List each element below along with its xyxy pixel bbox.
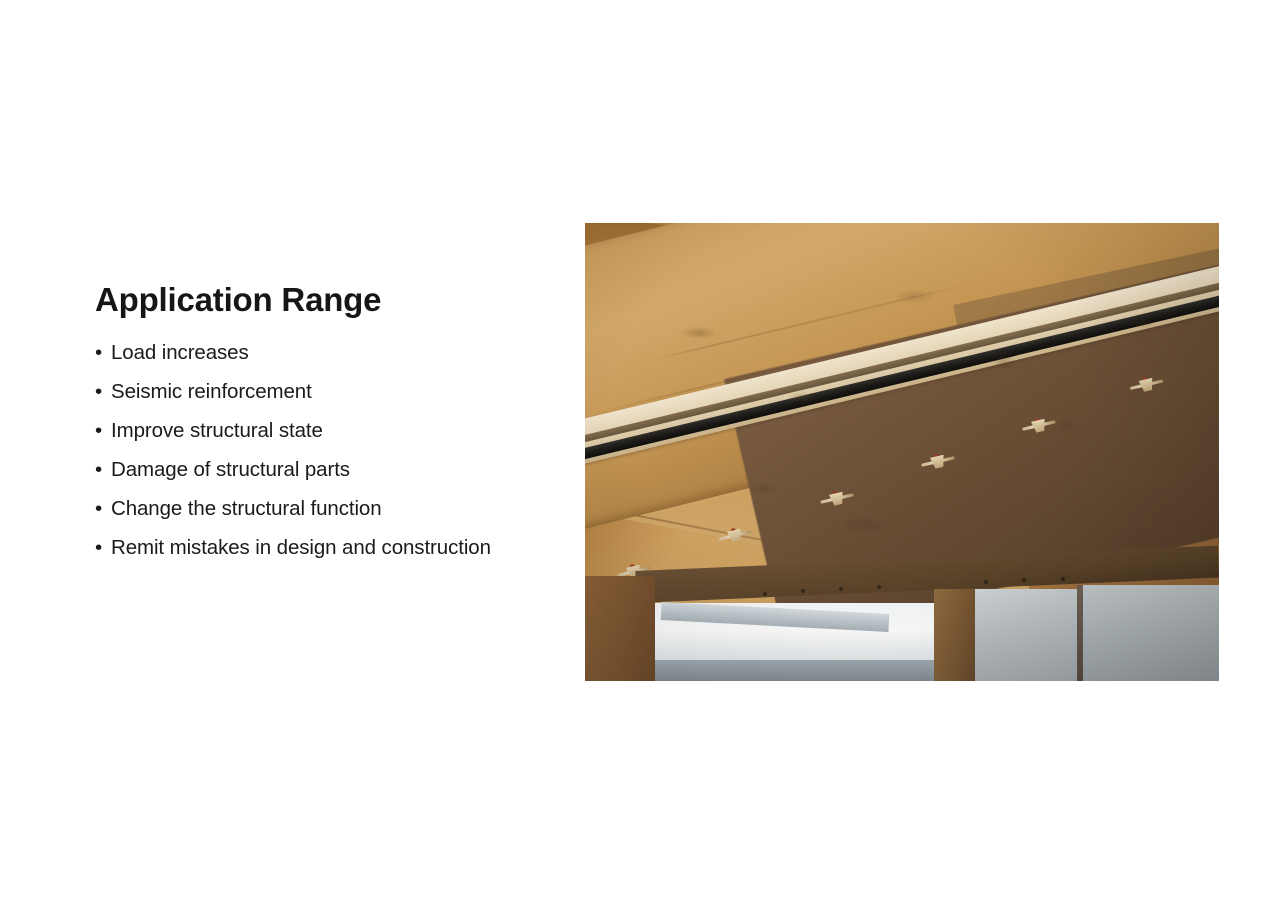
list-item-label: Damage of structural parts: [111, 460, 350, 481]
anchor-pin-icon: [731, 527, 737, 533]
photo-bolt-dot: [839, 587, 843, 591]
anchor-pin-icon: [832, 491, 838, 497]
concrete-beam-cfrp-strengthening-photo: [585, 223, 1219, 681]
photo-concrete-wall-panel: [1083, 585, 1219, 681]
photo-bolt-dot: [763, 592, 767, 596]
bullet-list: • Load increases • Seismic reinforcement…: [95, 334, 565, 568]
photo-bolt-dot: [877, 585, 881, 589]
photo-bolt-dot: [1061, 577, 1065, 581]
anchor-pin-icon: [933, 454, 939, 460]
anchor-pin-icon: [1035, 417, 1041, 423]
anchor-pin-icon: [1142, 377, 1148, 383]
list-item-label: Load increases: [111, 343, 249, 364]
slide-canvas: Application Range • Load increases • Sei…: [0, 0, 1275, 902]
list-item-label: Improve structural state: [111, 421, 323, 442]
bullet-icon: •: [95, 421, 111, 442]
photo-concrete-column: [934, 589, 975, 681]
list-item-label: Change the structural function: [111, 499, 382, 520]
page-title: Application Range: [95, 283, 565, 318]
list-item: • Seismic reinforcement: [95, 373, 565, 412]
list-item: • Change the structural function: [95, 490, 565, 529]
photo-opening-sill: [642, 660, 972, 681]
list-item-label: Seismic reinforcement: [111, 382, 312, 403]
bullet-icon: •: [95, 382, 111, 403]
list-item: • Damage of structural parts: [95, 451, 565, 490]
bullet-icon: •: [95, 499, 111, 520]
list-item: • Improve structural state: [95, 412, 565, 451]
text-content-block: Application Range • Load increases • Sei…: [95, 283, 565, 568]
photo-concrete-wall-panel: [972, 589, 1080, 681]
photo-canvas: [585, 223, 1219, 681]
list-item: • Load increases: [95, 334, 565, 373]
photo-concrete-column: [585, 576, 655, 681]
list-item-label: Remit mistakes in design and constructio…: [111, 538, 491, 559]
list-item: • Remit mistakes in design and construct…: [95, 529, 565, 568]
bullet-icon: •: [95, 460, 111, 481]
anchor-pin-icon: [629, 564, 635, 570]
bullet-icon: •: [95, 538, 111, 559]
bullet-icon: •: [95, 343, 111, 364]
